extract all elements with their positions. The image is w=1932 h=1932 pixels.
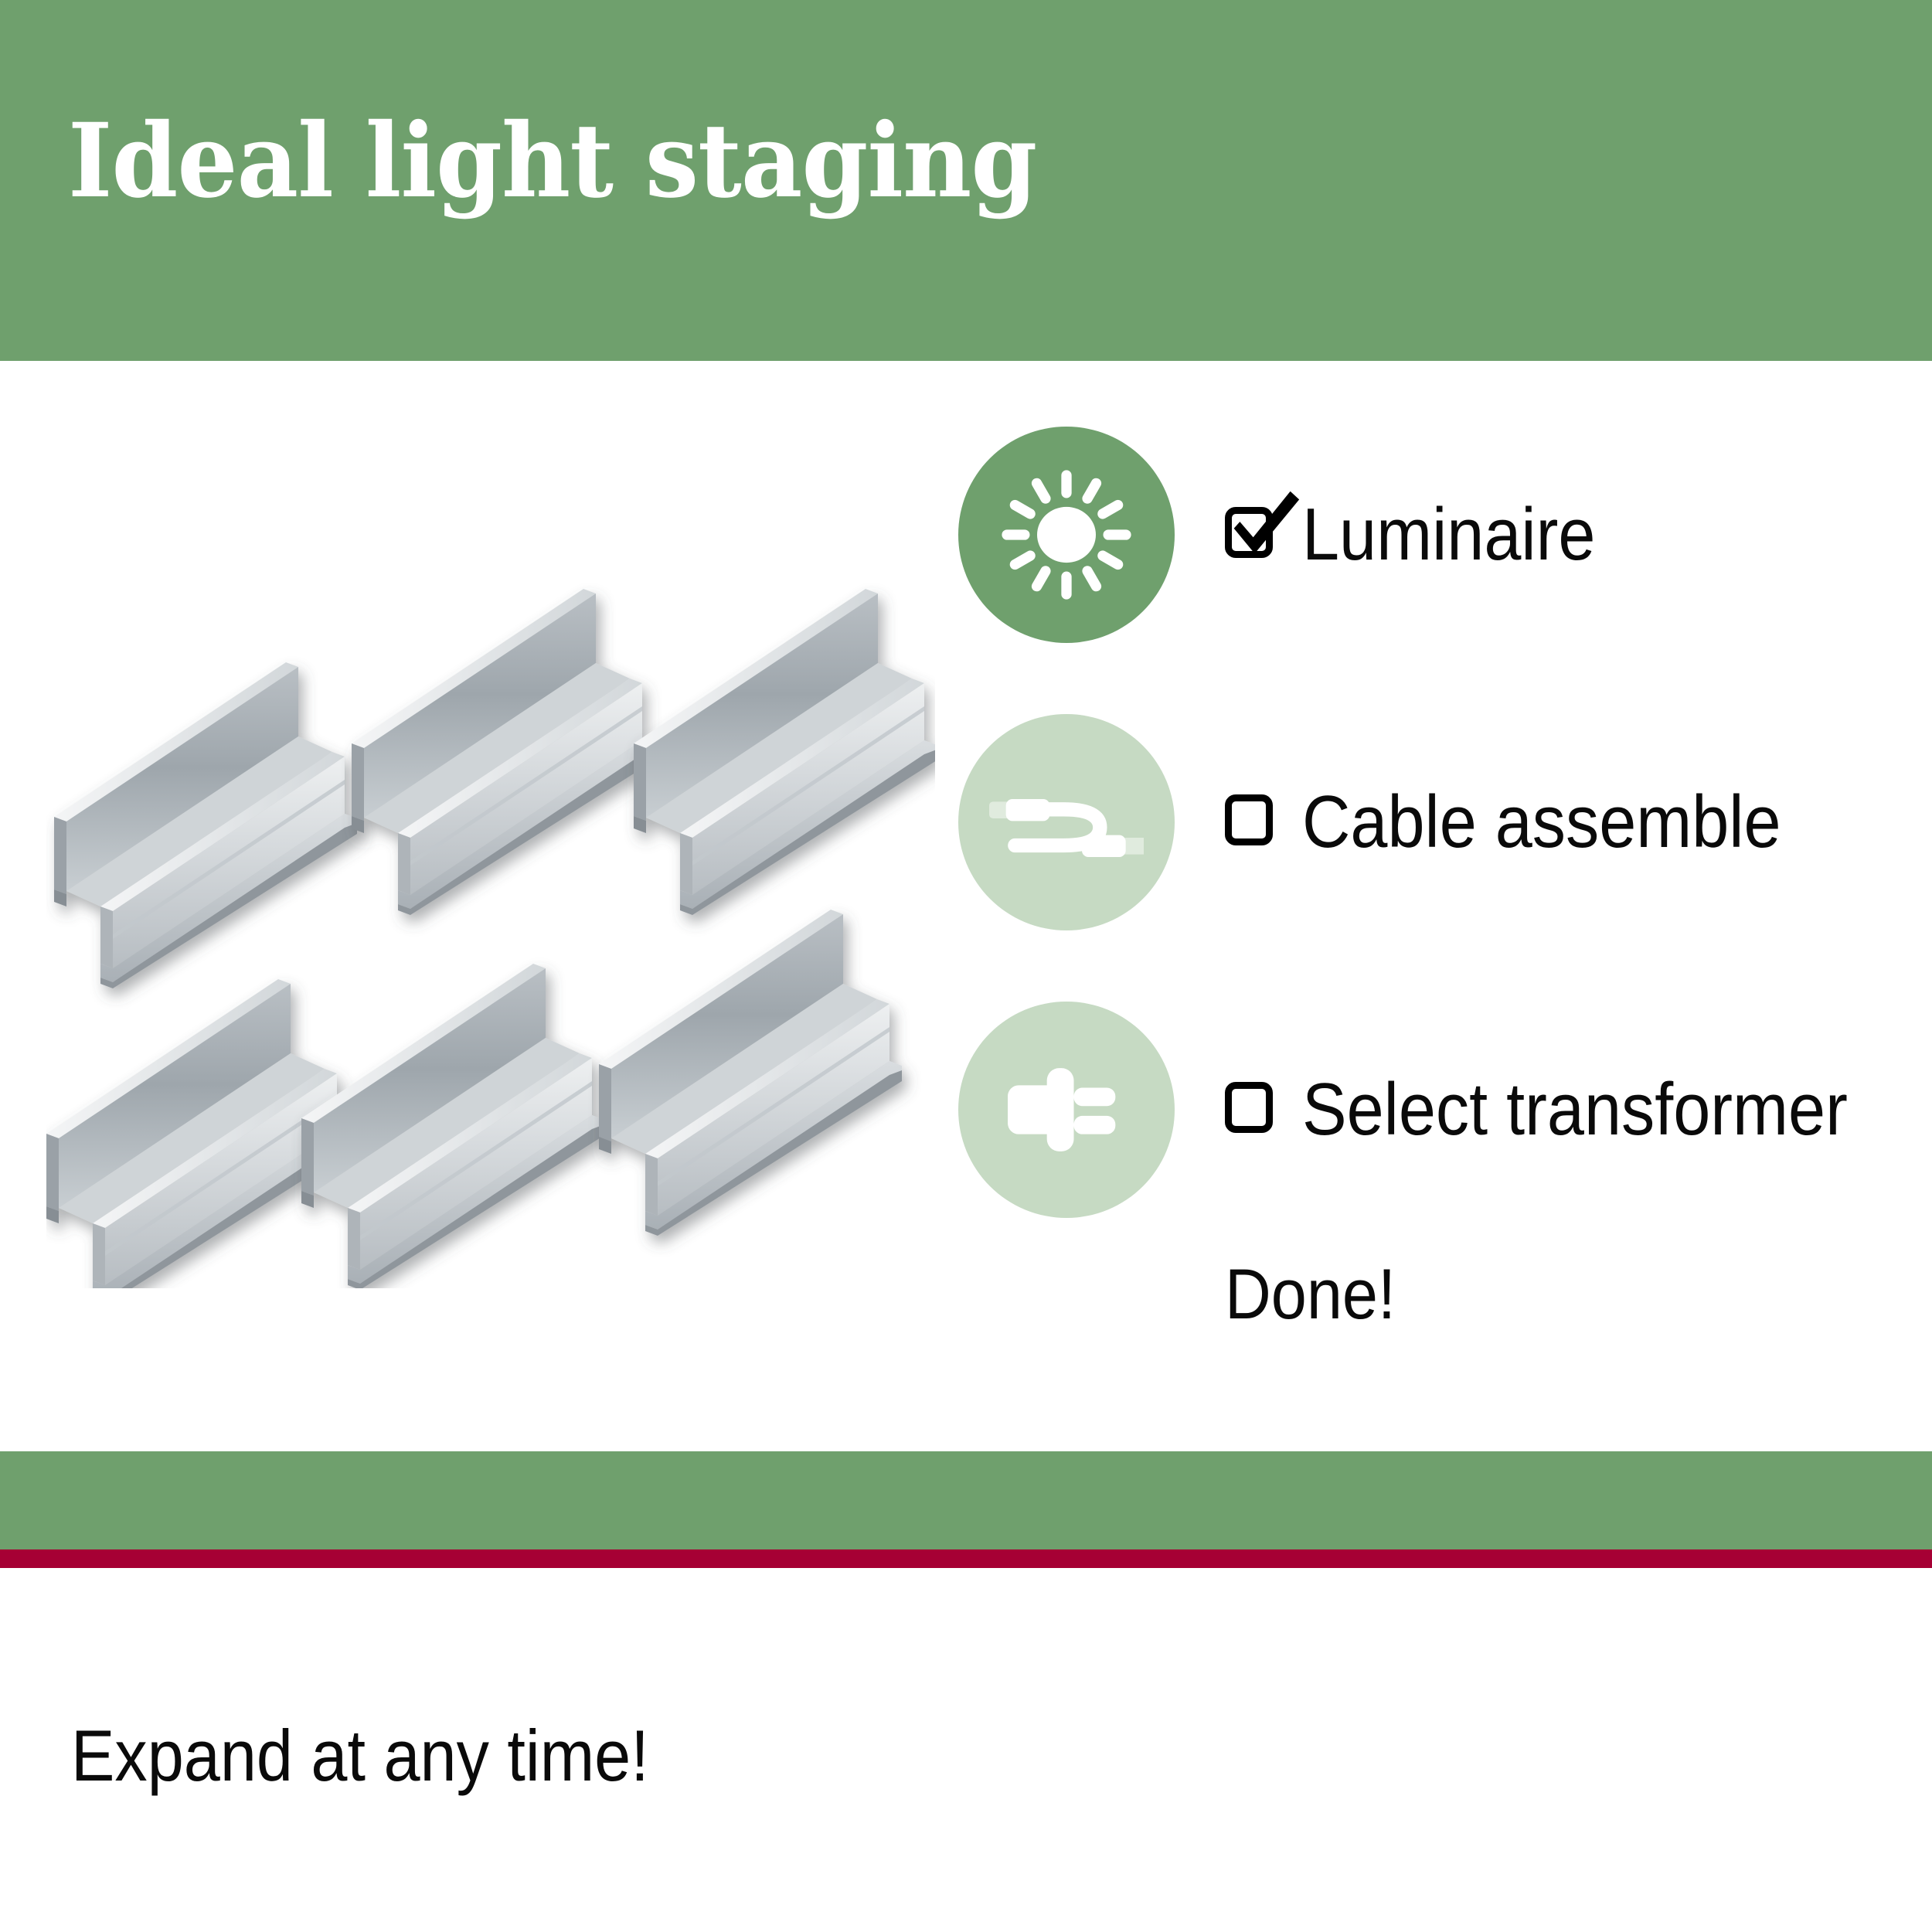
luminaire-icon-badge	[958, 427, 1175, 643]
checkbox-select-transformer[interactable]	[1225, 1082, 1281, 1138]
cable-label-group[interactable]: Cable assemble	[1225, 774, 1834, 870]
checklist-item-label: Cable assemble	[1302, 785, 1781, 859]
profile-item	[301, 964, 604, 1288]
profile-item	[54, 662, 357, 988]
checklist-item-label: Select transformer	[1302, 1073, 1848, 1147]
footer-area: Expand at any time!	[0, 1568, 1932, 1932]
page-title: Ideal light staging	[68, 108, 1036, 216]
plug-icon-badge	[958, 1002, 1175, 1218]
checkbox-cable-assemble[interactable]	[1225, 794, 1281, 850]
sun-icon	[993, 461, 1140, 608]
done-label: Done!	[1225, 1259, 1396, 1330]
checkbox-box	[1225, 794, 1273, 845]
checklist-row-select-transformer[interactable]: Select transformer	[958, 1002, 1932, 1289]
product-image-aluminium-profiles	[46, 562, 935, 1288]
checklist-row-cable-assemble[interactable]: Cable assemble	[958, 714, 1932, 1002]
header-bar: Ideal light staging	[0, 0, 1932, 361]
aluminium-profile-illustration	[46, 562, 935, 1288]
cable-icon-badge	[958, 714, 1175, 930]
footer-caption: Expand at any time!	[71, 1719, 649, 1792]
footer-red-accent-band	[0, 1549, 1932, 1568]
footer-green-band	[0, 1451, 1932, 1549]
profile-item	[352, 589, 655, 915]
checklist-row-luminaire[interactable]: Luminaire	[958, 427, 1932, 714]
luminaire-label-group[interactable]: Luminaire	[1225, 487, 1628, 583]
checkbox-box	[1225, 1082, 1273, 1133]
main-content: Luminaire Cable assemble	[0, 361, 1932, 1451]
cable-icon	[989, 745, 1144, 900]
profile-item	[634, 589, 935, 915]
checkbox-box	[1225, 507, 1273, 558]
checklist: Luminaire Cable assemble	[958, 427, 1932, 1289]
profile-item	[599, 910, 902, 1236]
checklist-item-label: Luminaire	[1302, 498, 1595, 572]
checkbox-luminaire[interactable]	[1225, 507, 1281, 563]
plug-icon	[993, 1036, 1140, 1183]
transformer-label-group[interactable]: Select transformer	[1225, 1062, 1908, 1158]
